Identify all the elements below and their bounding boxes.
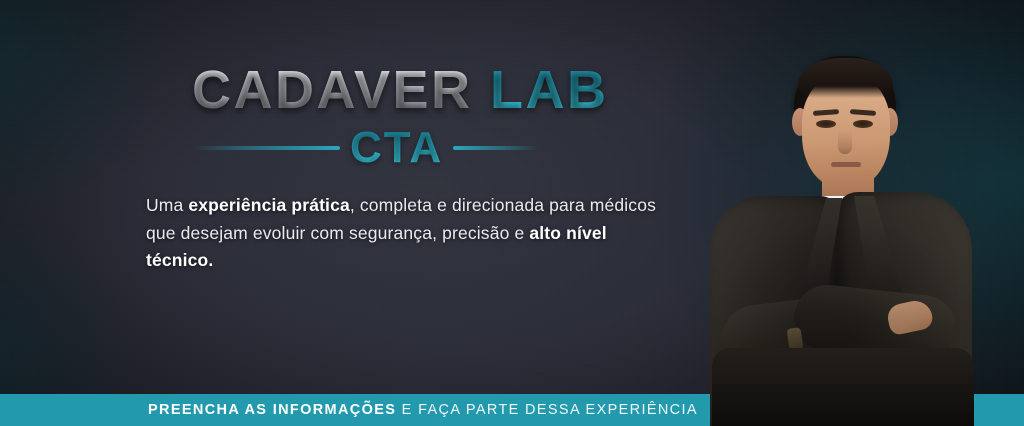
description-segment-2: , completa e direcionada — [350, 195, 544, 215]
description-text: Uma experiência prática, completa e dire… — [146, 192, 676, 275]
divider-rule-right — [453, 146, 538, 150]
cta-bar-label-bold: PREENCHA AS INFORMAÇÕES — [148, 402, 396, 418]
presenter-portrait-image — [626, 0, 1024, 426]
page-title: CADAVER LAB — [192, 63, 609, 117]
portrait-nose — [838, 130, 852, 154]
portrait-eye-left — [816, 120, 836, 128]
description-segment-1: Uma — [146, 195, 188, 215]
divider-rule-left — [192, 146, 340, 150]
cta-bar-label[interactable]: PREENCHA AS INFORMAÇÕES E FAÇA PARTE DES… — [148, 396, 698, 424]
portrait-eye-right — [853, 120, 873, 128]
title-word-lab: LAB — [490, 60, 608, 120]
portrait-mouth — [831, 162, 861, 167]
cadaver-lab-cta-banner: CADAVER LAB CTA Uma experiência prática,… — [0, 0, 1024, 426]
title-subtitle-row: CTA — [192, 124, 590, 172]
portrait-hair-fringe — [798, 58, 893, 98]
title-word-cadaver: CADAVER — [192, 60, 473, 120]
title-subtitle-cta: CTA — [350, 126, 443, 170]
description-segment-4: precisão e — [442, 223, 529, 243]
portrait-torso-lower — [712, 348, 974, 426]
description-bold-1: experiência prática — [188, 195, 349, 215]
